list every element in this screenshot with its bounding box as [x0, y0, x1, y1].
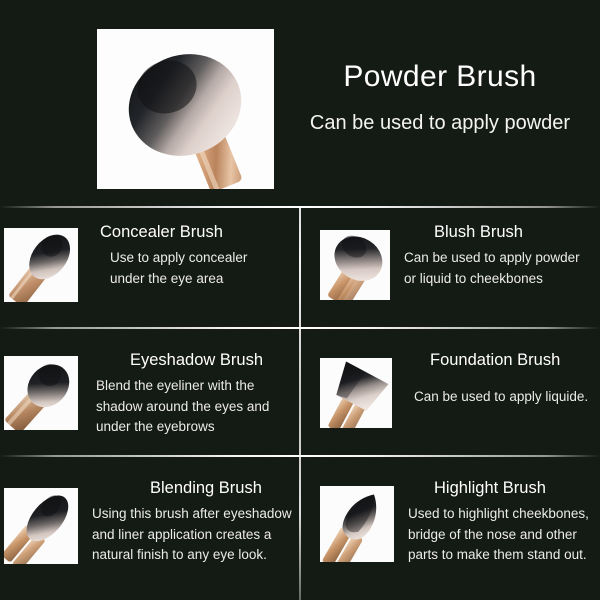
divider-vertical-1 — [299, 206, 301, 600]
desc-line: shadow around the eyes and — [96, 397, 296, 418]
brush-card-blush: Blush Brush Can be used to apply powder … — [310, 222, 598, 322]
brush-card-concealer: Concealer Brush Use to apply concealer u… — [4, 222, 296, 322]
desc-line: Used to highlight cheekbones, — [408, 504, 598, 525]
eyeshadow-brush-illustration — [4, 356, 78, 430]
desc-line: or liquid to cheekbones — [404, 269, 598, 290]
page-title: Powder Brush — [284, 60, 596, 95]
brush-title-eyeshadow: Eyeshadow Brush — [92, 350, 296, 371]
brush-description-blending: Using this brush after eyeshadow and lin… — [92, 504, 296, 567]
hero-text-block: Powder Brush Can be used to apply powder — [284, 60, 596, 135]
brush-infographic: Powder Brush Can be used to apply powder — [0, 0, 600, 600]
desc-line: bridge of the nose and other — [408, 525, 598, 546]
desc-line: natural finish to any eye look. — [92, 545, 296, 566]
foundation-brush-photo — [320, 358, 392, 428]
foundation-text-block: Foundation Brush Can be used to apply li… — [392, 350, 598, 408]
highlight-text-block: Highlight Brush Used to highlight cheekb… — [394, 478, 598, 566]
eyeshadow-text-block: Eyeshadow Brush Blend the eyeliner with … — [78, 350, 296, 438]
blending-brush-illustration — [4, 488, 78, 564]
powder-brush-photo — [97, 29, 274, 189]
brush-title-blending: Blending Brush — [92, 478, 296, 499]
powder-brush-illustration — [97, 29, 274, 189]
brush-description-blush: Can be used to apply powder or liquid to… — [404, 248, 598, 290]
concealer-text-block: Concealer Brush Use to apply concealer u… — [78, 222, 296, 289]
brush-title-highlight: Highlight Brush — [408, 478, 598, 499]
brush-title-concealer: Concealer Brush — [92, 222, 296, 243]
highlight-brush-illustration — [320, 486, 394, 562]
desc-line: Blend the eyeliner with the — [96, 376, 296, 397]
eyeshadow-brush-photo — [4, 356, 78, 430]
hero-section: Powder Brush Can be used to apply powder — [0, 0, 600, 206]
desc-line: under the eyebrows — [96, 417, 296, 438]
brush-title-foundation: Foundation Brush — [406, 350, 598, 371]
brush-card-foundation: Foundation Brush Can be used to apply li… — [310, 350, 598, 450]
brush-description-foundation: Can be used to apply liquide. — [406, 387, 598, 408]
brush-description-concealer: Use to apply concealer under the eye are… — [92, 248, 296, 290]
blush-brush-photo — [320, 230, 390, 300]
page-subtitle: Can be used to apply powder — [284, 111, 596, 135]
highlight-brush-photo — [320, 486, 394, 562]
desc-line: under the eye area — [110, 269, 296, 290]
brush-title-blush: Blush Brush — [404, 222, 598, 243]
concealer-brush-photo — [4, 228, 78, 302]
desc-line: Can be used to apply liquide. — [414, 387, 598, 408]
desc-line: Use to apply concealer — [110, 248, 296, 269]
desc-line: Can be used to apply powder — [404, 248, 598, 269]
blending-text-block: Blending Brush Using this brush after ey… — [78, 478, 296, 566]
foundation-brush-illustration — [320, 358, 392, 428]
blending-brush-photo — [4, 488, 78, 564]
concealer-brush-illustration — [4, 228, 78, 302]
blush-brush-illustration — [320, 230, 390, 300]
desc-line: Using this brush after eyeshadow — [92, 504, 296, 525]
brush-description-highlight: Used to highlight cheekbones, bridge of … — [408, 504, 598, 567]
desc-line: and liner application creates a — [92, 525, 296, 546]
brush-card-eyeshadow: Eyeshadow Brush Blend the eyeliner with … — [4, 350, 296, 450]
brush-card-highlight: Highlight Brush Used to highlight cheekb… — [310, 478, 598, 588]
desc-line: parts to make them stand out. — [408, 545, 598, 566]
blush-text-block: Blush Brush Can be used to apply powder … — [390, 222, 598, 289]
brush-description-eyeshadow: Blend the eyeliner with the shadow aroun… — [92, 376, 296, 439]
brush-card-blending: Blending Brush Using this brush after ey… — [4, 478, 296, 588]
